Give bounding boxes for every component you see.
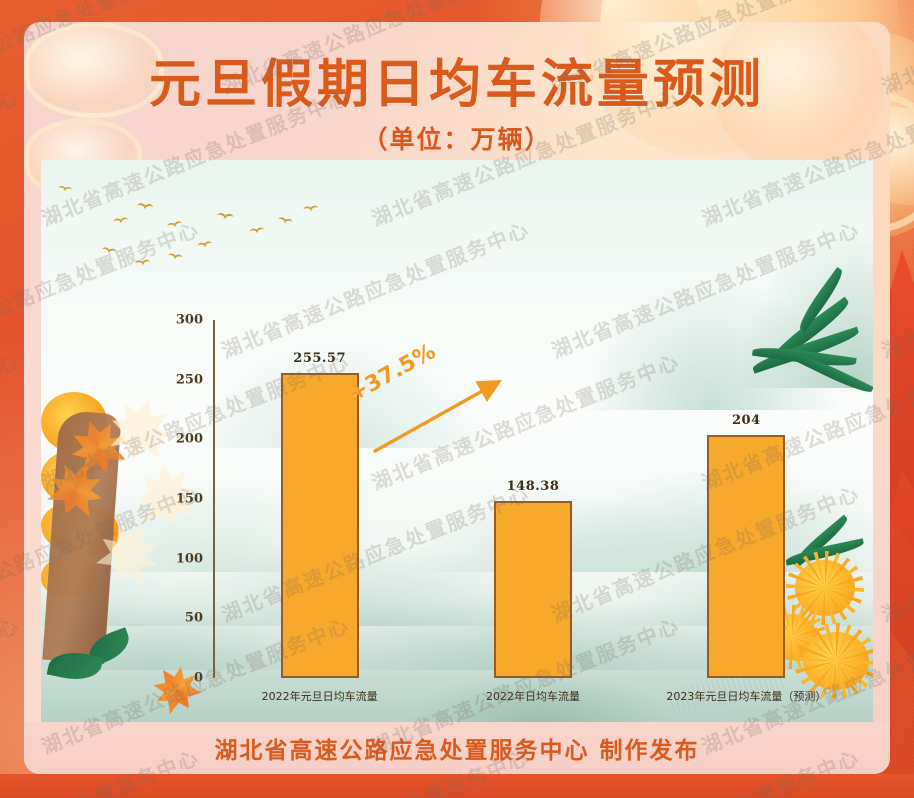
- category-label: 2022年元旦日均车流量: [262, 688, 378, 704]
- footer-text: 湖北省高速公路应急处置服务中心 制作发布: [214, 731, 699, 765]
- bar-value-label: 255.57: [293, 351, 346, 366]
- y-axis-tick: 0: [169, 671, 203, 686]
- bars-container: [213, 320, 853, 678]
- bar: [707, 435, 785, 678]
- chart-panel: 050100150200250300 2022年元旦日均车流量2022年日均车流…: [41, 160, 873, 722]
- page-title: 元旦假期日均车流量预测: [24, 56, 890, 114]
- page-subtitle: （单位：万辆）: [24, 120, 890, 156]
- poster: 元旦假期日均车流量预测 （单位：万辆）: [0, 0, 914, 798]
- title-block: 元旦假期日均车流量预测 （单位：万辆）: [24, 56, 890, 156]
- y-axis-tick: 150: [169, 492, 203, 507]
- y-axis-tick: 100: [169, 551, 203, 566]
- bottom-strip: [0, 774, 914, 798]
- footer-band: 湖北省高速公路应急处置服务中心 制作发布: [24, 722, 890, 774]
- category-label: 2022年日均车流量: [486, 688, 580, 704]
- inner-card: 元旦假期日均车流量预测 （单位：万辆）: [24, 22, 890, 774]
- y-axis-tick: 300: [169, 313, 203, 328]
- bar: [281, 373, 359, 678]
- plot-area: 050100150200250300 2022年元旦日均车流量2022年日均车流…: [41, 160, 873, 722]
- y-axis-tick: 50: [169, 611, 203, 626]
- bar-value-label: 148.38: [507, 479, 560, 494]
- category-label: 2023年元旦日均车流量（预测）: [666, 688, 826, 704]
- y-axis-tick: 200: [169, 432, 203, 447]
- bar: [494, 501, 572, 678]
- y-axis-tick: 250: [169, 372, 203, 387]
- bar-value-label: 204: [732, 413, 761, 428]
